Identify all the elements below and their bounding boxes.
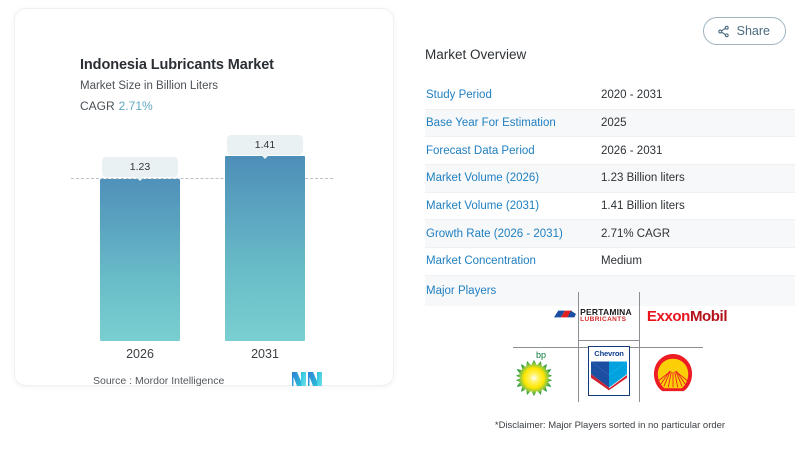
chevron-wordmark: Chevron: [594, 349, 623, 358]
pertamina-sub-wordmark: LUBRICANTS: [580, 317, 632, 324]
player-logo-shell: [643, 348, 703, 398]
exxon-wordmark-part2: on: [672, 308, 690, 325]
bar-chart-plot: 1.23 1.41 2026 2031: [15, 9, 395, 387]
row-value: 2025: [601, 117, 627, 129]
mordor-intelligence-logo-icon: [291, 371, 323, 387]
row-value: 1.41 Billion liters: [601, 200, 685, 212]
bar-value-label-2026: 1.23: [102, 157, 178, 177]
overview-title: Market Overview: [425, 47, 526, 62]
table-row: Growth Rate (2026 - 2031) 2.71% CAGR: [425, 220, 795, 248]
row-value: 2020 - 2031: [601, 89, 662, 101]
table-row: Forecast Data Period 2026 - 2031: [425, 137, 795, 165]
pertamina-arrow-icon: [554, 307, 576, 325]
player-logo-bp: bp: [508, 350, 570, 398]
row-key[interactable]: Market Volume (2031): [425, 200, 601, 212]
row-value: Medium: [601, 255, 642, 267]
row-key[interactable]: Growth Rate (2026 - 2031): [425, 228, 601, 240]
grid-divider-center-top: [578, 340, 640, 341]
row-value: 2026 - 2031: [601, 145, 662, 157]
row-key[interactable]: Market Volume (2026): [425, 172, 601, 184]
table-row: Market Volume (2026) 1.23 Billion liters: [425, 165, 795, 193]
bar-2031[interactable]: [225, 156, 305, 341]
disclaimer-text: *Disclaimer: Major Players sorted in no …: [425, 420, 795, 431]
chevron-hallmark-icon: [591, 359, 627, 391]
row-key[interactable]: Base Year For Estimation: [425, 117, 601, 129]
bar-value-label-2031: 1.41: [227, 135, 303, 155]
chart-source: Source : Mordor Intelligence: [93, 375, 224, 387]
shell-pecten-icon: [652, 353, 694, 393]
table-row: Market Concentration Medium: [425, 248, 795, 276]
row-key[interactable]: Study Period: [425, 89, 601, 101]
bar-2026[interactable]: [100, 179, 180, 341]
player-logo-chevron: Chevron: [583, 342, 635, 400]
grid-divider-vertical-right: [639, 292, 640, 402]
table-row: Study Period 2020 - 2031: [425, 82, 795, 110]
row-key[interactable]: Market Concentration: [425, 255, 601, 267]
row-key[interactable]: Forecast Data Period: [425, 145, 601, 157]
major-players-logo-grid: PERTAMINA LUBRICANTS ExxonMobil bp: [513, 292, 703, 402]
row-value: 2.71% CAGR: [601, 228, 670, 240]
bp-helios-icon: [516, 360, 552, 396]
exxon-wordmark-part1: Exx: [647, 308, 673, 325]
screenshot-root: Share Indonesia Lubricants Market Market…: [0, 0, 800, 459]
chart-card: Indonesia Lubricants Market Market Size …: [14, 8, 394, 386]
x-axis-label-2026: 2026: [100, 347, 180, 361]
table-row: Market Volume (2031) 1.41 Billion liters: [425, 193, 795, 221]
table-row: Base Year For Estimation 2025: [425, 110, 795, 138]
row-value: 1.23 Billion liters: [601, 172, 685, 184]
player-logo-pertamina: PERTAMINA LUBRICANTS: [553, 296, 633, 336]
market-overview-panel: Market Overview Study Period 2020 - 2031…: [420, 0, 800, 459]
overview-table: Study Period 2020 - 2031 Base Year For E…: [425, 82, 795, 306]
player-logo-exxonmobil: ExxonMobil: [641, 300, 733, 332]
mobil-wordmark: Mobil: [690, 308, 727, 325]
bp-wordmark: bp: [536, 350, 546, 360]
x-axis-label-2031: 2031: [225, 347, 305, 361]
